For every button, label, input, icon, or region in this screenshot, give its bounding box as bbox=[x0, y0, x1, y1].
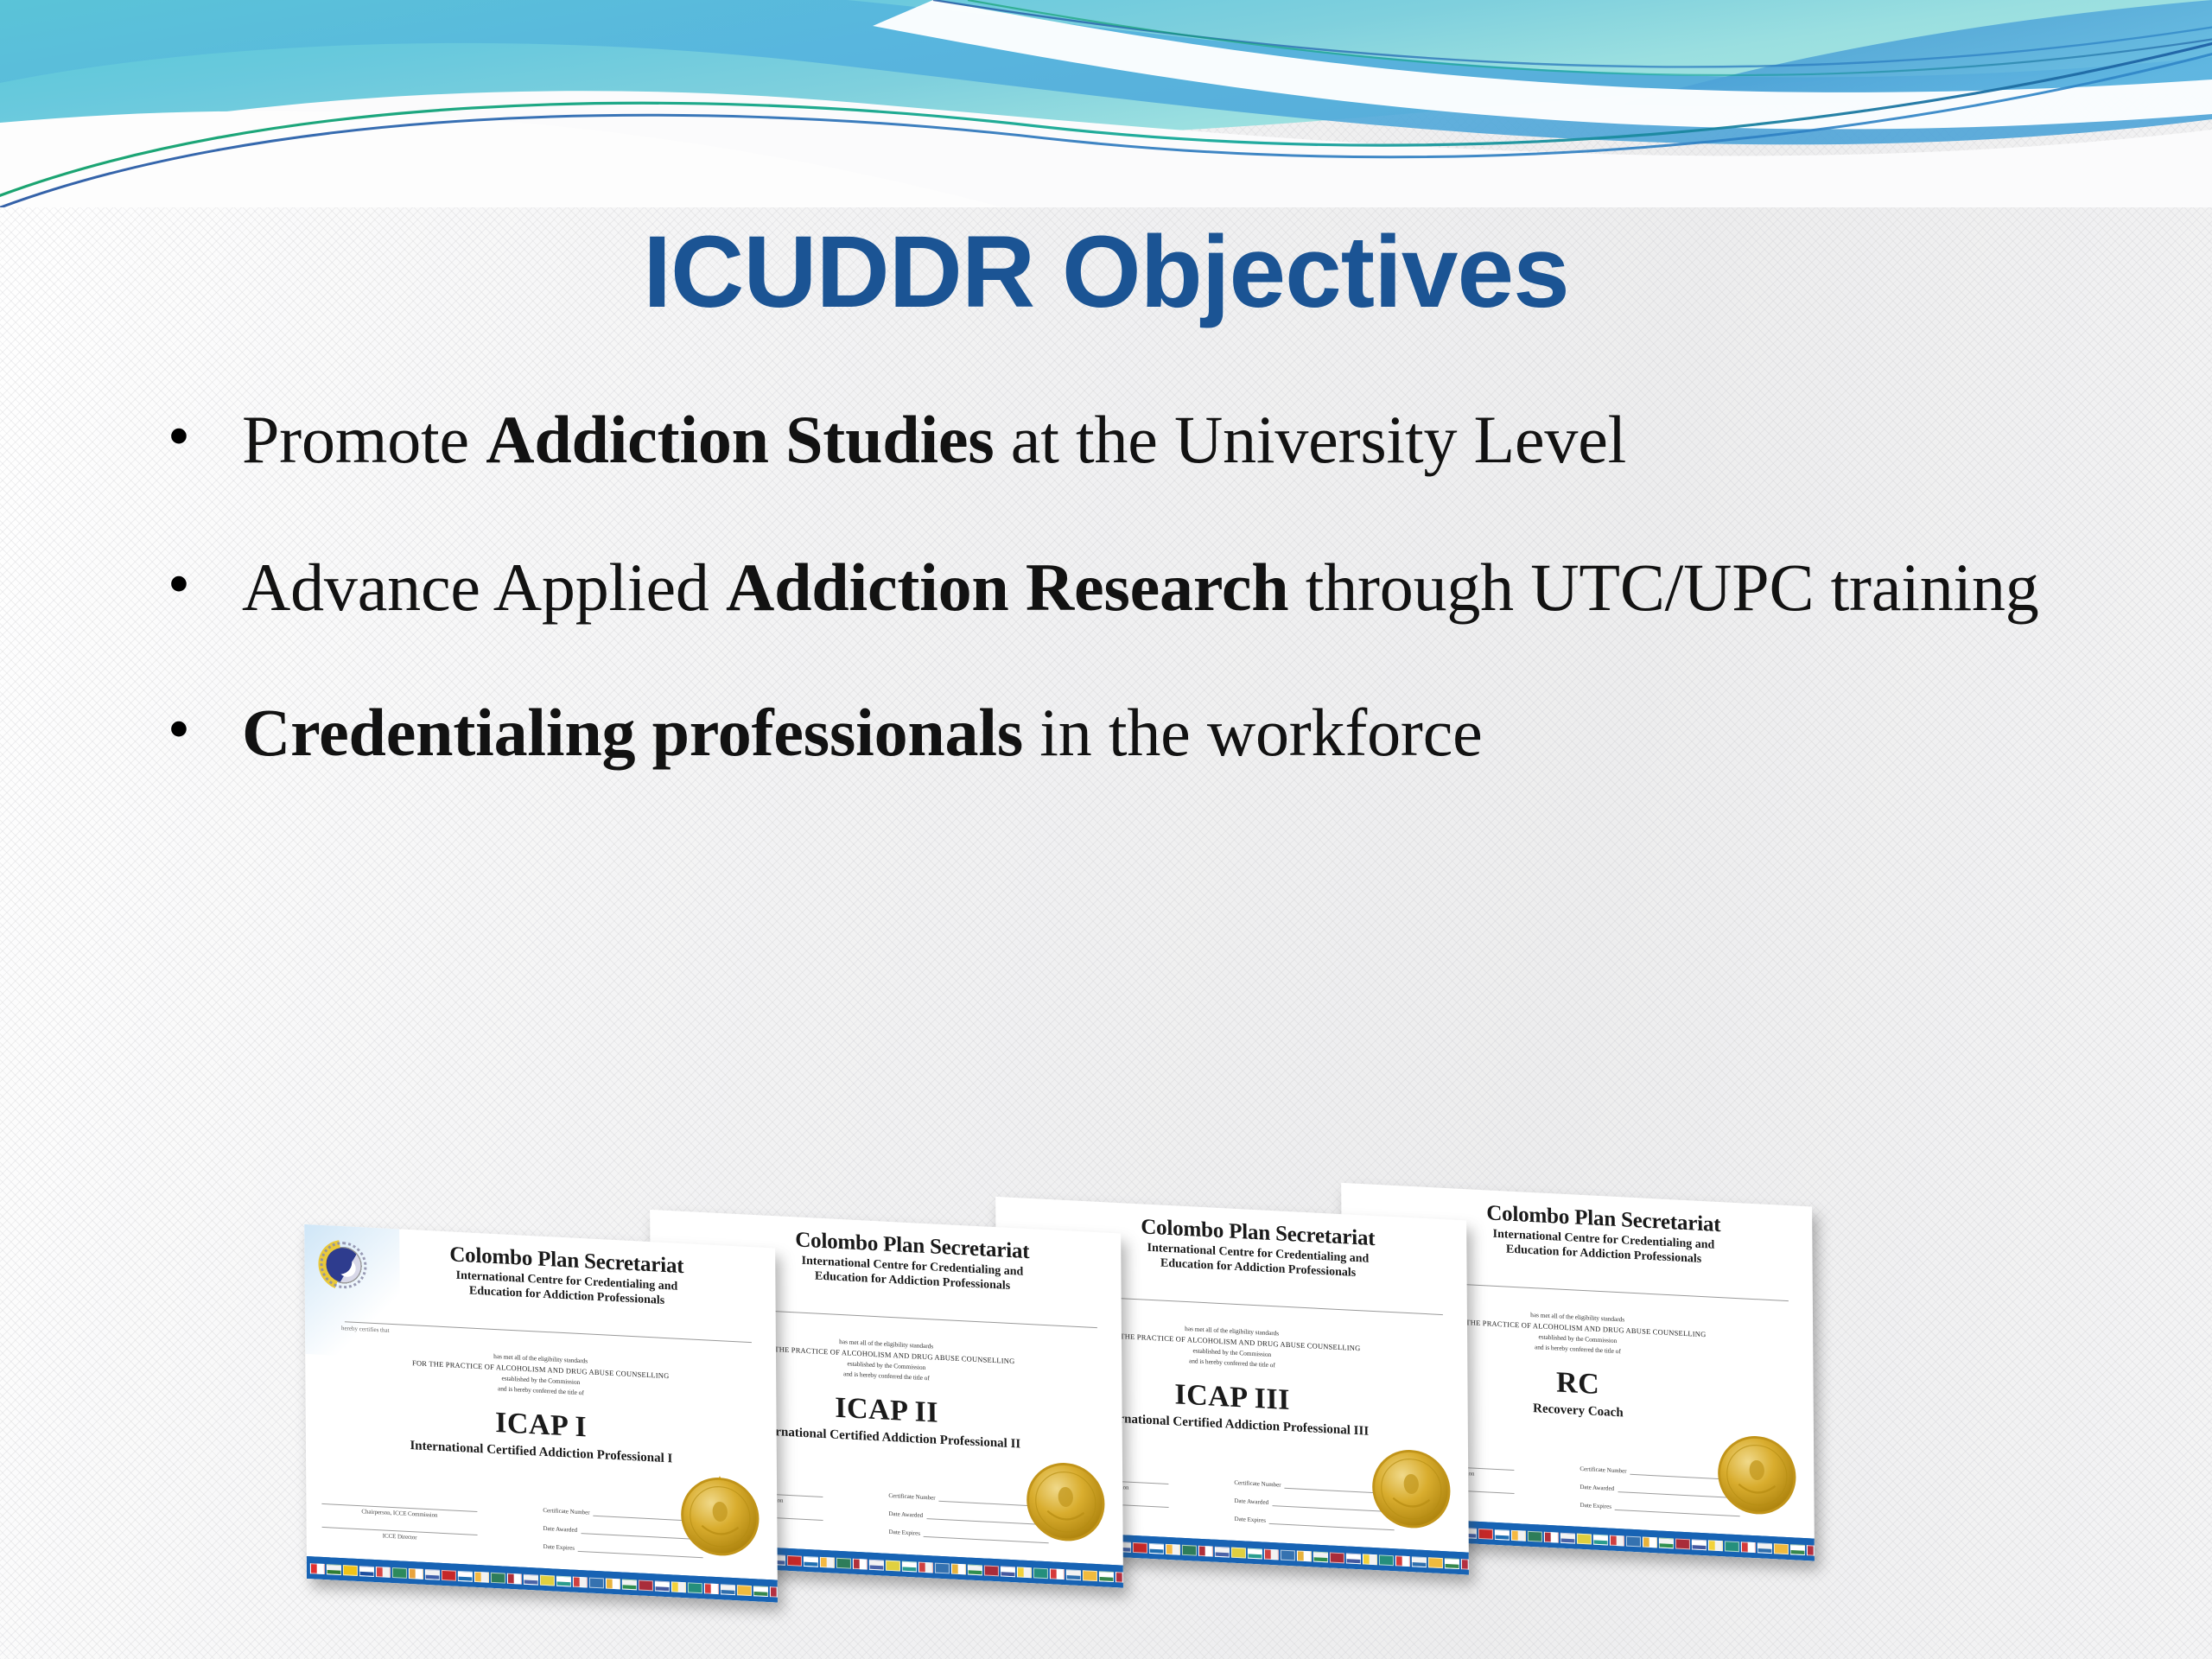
flag-icon bbox=[770, 1586, 778, 1598]
flag-icon bbox=[853, 1559, 868, 1570]
flag-icon bbox=[589, 1578, 604, 1589]
bullet-dot-icon: • bbox=[130, 689, 242, 771]
flag-icon bbox=[1182, 1545, 1197, 1556]
field-label-date-expires: Date Expires bbox=[889, 1529, 920, 1537]
field-label-date-expires: Date Expires bbox=[1580, 1502, 1611, 1510]
flag-icon bbox=[951, 1564, 966, 1575]
flag-icon bbox=[1461, 1559, 1469, 1570]
objective-text-3: Credentialing professionals in the workf… bbox=[242, 689, 2143, 776]
list-item: • Advance Applied Addiction Research thr… bbox=[130, 543, 2143, 631]
flag-icon bbox=[1116, 1572, 1123, 1583]
flag-icon bbox=[606, 1579, 620, 1590]
flag-icon bbox=[573, 1577, 588, 1588]
flag-icon bbox=[902, 1561, 917, 1573]
objective-3-part-0: Credentialing professionals bbox=[242, 695, 1023, 770]
flag-icon bbox=[1083, 1570, 1097, 1581]
flag-icon bbox=[507, 1573, 522, 1585]
flag-icon bbox=[1708, 1540, 1723, 1551]
flag-icon bbox=[1264, 1549, 1279, 1560]
flag-icon bbox=[343, 1565, 358, 1576]
flag-icon bbox=[376, 1567, 391, 1578]
flag-icon bbox=[1198, 1546, 1213, 1557]
signature-column: Chairperson, ICCE Commission ICCE Direct… bbox=[321, 1503, 477, 1558]
flag-icon bbox=[458, 1571, 473, 1582]
flag-icon bbox=[1395, 1555, 1410, 1567]
flag-icon bbox=[918, 1562, 933, 1573]
flag-icon bbox=[1528, 1531, 1542, 1542]
flag-icon bbox=[409, 1568, 423, 1580]
gold-seal-icon bbox=[1024, 1459, 1108, 1546]
flag-icon bbox=[1560, 1533, 1575, 1544]
flag-icon bbox=[359, 1566, 374, 1577]
flag-icon bbox=[787, 1555, 802, 1567]
objective-text-1: Promote Addiction Studies at the Univers… bbox=[242, 396, 2143, 483]
flag-icon bbox=[1725, 1541, 1739, 1552]
list-item: • Credentialing professionals in the wor… bbox=[130, 689, 2143, 776]
field-label-certificate-number: Certificate Number bbox=[1580, 1465, 1626, 1475]
flag-icon bbox=[639, 1580, 653, 1591]
flag-icon bbox=[1281, 1550, 1295, 1561]
objective-text-2: Advance Applied Addiction Research throu… bbox=[242, 543, 2143, 631]
flag-icon bbox=[1215, 1547, 1230, 1558]
flag-icon bbox=[1412, 1556, 1427, 1567]
flag-icon bbox=[491, 1573, 505, 1584]
flag-icon bbox=[1428, 1557, 1443, 1568]
presentation-slide: ICUDDR Objectives • Promote Addiction St… bbox=[0, 0, 2212, 1659]
field-label-date-awarded: Date Awarded bbox=[1234, 1497, 1268, 1506]
flag-icon bbox=[655, 1580, 670, 1592]
flag-icon bbox=[1445, 1558, 1459, 1569]
flag-icon bbox=[1544, 1532, 1559, 1543]
field-label-certificate-number: Certificate Number bbox=[888, 1492, 935, 1502]
flag-icon bbox=[1643, 1537, 1657, 1548]
certificate-fan-image: Colombo Plan Secretariat International C… bbox=[307, 1171, 1888, 1603]
flag-icon bbox=[804, 1556, 818, 1567]
flag-icon bbox=[1675, 1538, 1690, 1549]
flag-icon bbox=[1050, 1568, 1065, 1580]
field-label-certificate-number: Certificate Number bbox=[1234, 1479, 1281, 1489]
flag-icon bbox=[392, 1567, 407, 1579]
slide-title: ICUDDR Objectives bbox=[0, 218, 2212, 327]
flag-icon bbox=[1001, 1566, 1015, 1577]
objective-2-part-1: Addiction Research bbox=[726, 550, 1288, 625]
flag-icon bbox=[1363, 1554, 1377, 1565]
field-label-certificate-number: Certificate Number bbox=[543, 1507, 589, 1516]
flag-icon bbox=[968, 1564, 982, 1575]
gold-seal-icon bbox=[678, 1473, 762, 1560]
flag-icon bbox=[1741, 1541, 1756, 1553]
flag-icon bbox=[1593, 1535, 1608, 1546]
flag-icon bbox=[1659, 1537, 1674, 1548]
flag-icon bbox=[1758, 1542, 1772, 1554]
objective-1-part-2: at the University Level bbox=[994, 402, 1626, 477]
flag-icon bbox=[1066, 1569, 1081, 1580]
flag-icon bbox=[1248, 1548, 1262, 1560]
flag-icon bbox=[474, 1572, 489, 1583]
flag-icon bbox=[1610, 1535, 1624, 1547]
flag-icon bbox=[1577, 1534, 1592, 1545]
flag-icon bbox=[442, 1570, 456, 1581]
flag-icon bbox=[1478, 1529, 1493, 1540]
flag-icon bbox=[836, 1558, 851, 1569]
list-item: • Promote Addiction Studies at the Unive… bbox=[130, 396, 2143, 483]
flag-icon bbox=[1099, 1571, 1114, 1582]
flag-icon bbox=[425, 1569, 440, 1580]
flag-icon bbox=[540, 1575, 555, 1586]
flag-icon bbox=[1692, 1539, 1707, 1550]
flag-icon bbox=[737, 1585, 752, 1596]
flag-icon bbox=[1790, 1544, 1805, 1555]
flag-icon bbox=[1017, 1567, 1032, 1578]
flag-icon bbox=[1511, 1530, 1526, 1541]
flag-icon bbox=[524, 1574, 538, 1586]
field-label-date-expires: Date Expires bbox=[1235, 1516, 1266, 1524]
certificate-card-icap-1: Colombo Plan Secretariat International C… bbox=[304, 1224, 778, 1603]
field-label-date-awarded: Date Awarded bbox=[888, 1510, 923, 1519]
flag-icon bbox=[820, 1557, 835, 1568]
field-label-date-awarded: Date Awarded bbox=[1580, 1484, 1614, 1492]
flag-icon bbox=[1626, 1536, 1641, 1548]
certificate-fine-print: has met all of the eligibility standards… bbox=[319, 1343, 762, 1407]
flag-icon bbox=[1807, 1545, 1815, 1556]
flag-icon bbox=[753, 1586, 768, 1597]
flag-icon bbox=[869, 1560, 884, 1571]
flag-icon bbox=[1495, 1529, 1510, 1541]
objective-2-part-2: through UTC/UPC training bbox=[1288, 550, 2038, 625]
gold-seal-icon bbox=[1715, 1432, 1799, 1519]
flag-icon bbox=[1330, 1552, 1344, 1563]
objective-1-part-1: Addiction Studies bbox=[486, 402, 994, 477]
flag-icon bbox=[1297, 1551, 1312, 1562]
flag-icon bbox=[1166, 1544, 1180, 1555]
flag-icon bbox=[886, 1560, 900, 1572]
flag-icon bbox=[310, 1563, 325, 1574]
flag-icon bbox=[1133, 1542, 1147, 1554]
bullet-dot-icon: • bbox=[130, 543, 242, 626]
objective-3-part-1: in the workforce bbox=[1023, 695, 1483, 770]
flag-icon bbox=[1346, 1553, 1361, 1564]
flag-icon bbox=[327, 1564, 341, 1575]
gold-seal-icon bbox=[1370, 1446, 1453, 1533]
field-label-date-awarded: Date Awarded bbox=[543, 1525, 577, 1534]
flag-icon bbox=[721, 1584, 735, 1595]
flag-icon bbox=[688, 1582, 702, 1593]
field-label-date-expires: Date Expires bbox=[543, 1543, 575, 1552]
objective-2-part-0: Advance Applied bbox=[242, 550, 726, 625]
flag-icon bbox=[1313, 1551, 1328, 1562]
objectives-list: • Promote Addiction Studies at the Unive… bbox=[130, 396, 2143, 776]
flag-icon bbox=[671, 1581, 686, 1592]
flag-icon bbox=[556, 1576, 571, 1587]
bullet-dot-icon: • bbox=[130, 396, 242, 478]
flag-icon bbox=[1149, 1543, 1164, 1554]
flag-icon bbox=[704, 1583, 719, 1594]
flag-icon bbox=[984, 1565, 999, 1576]
flag-icon bbox=[1231, 1548, 1246, 1559]
flag-icon bbox=[1774, 1543, 1789, 1554]
flag-icon bbox=[1379, 1554, 1394, 1566]
flag-icon bbox=[1033, 1567, 1048, 1579]
objective-1-part-0: Promote bbox=[242, 402, 486, 477]
flag-icon bbox=[935, 1563, 950, 1574]
colombo-plan-logo-icon bbox=[318, 1239, 368, 1292]
flag-icon bbox=[622, 1579, 637, 1590]
